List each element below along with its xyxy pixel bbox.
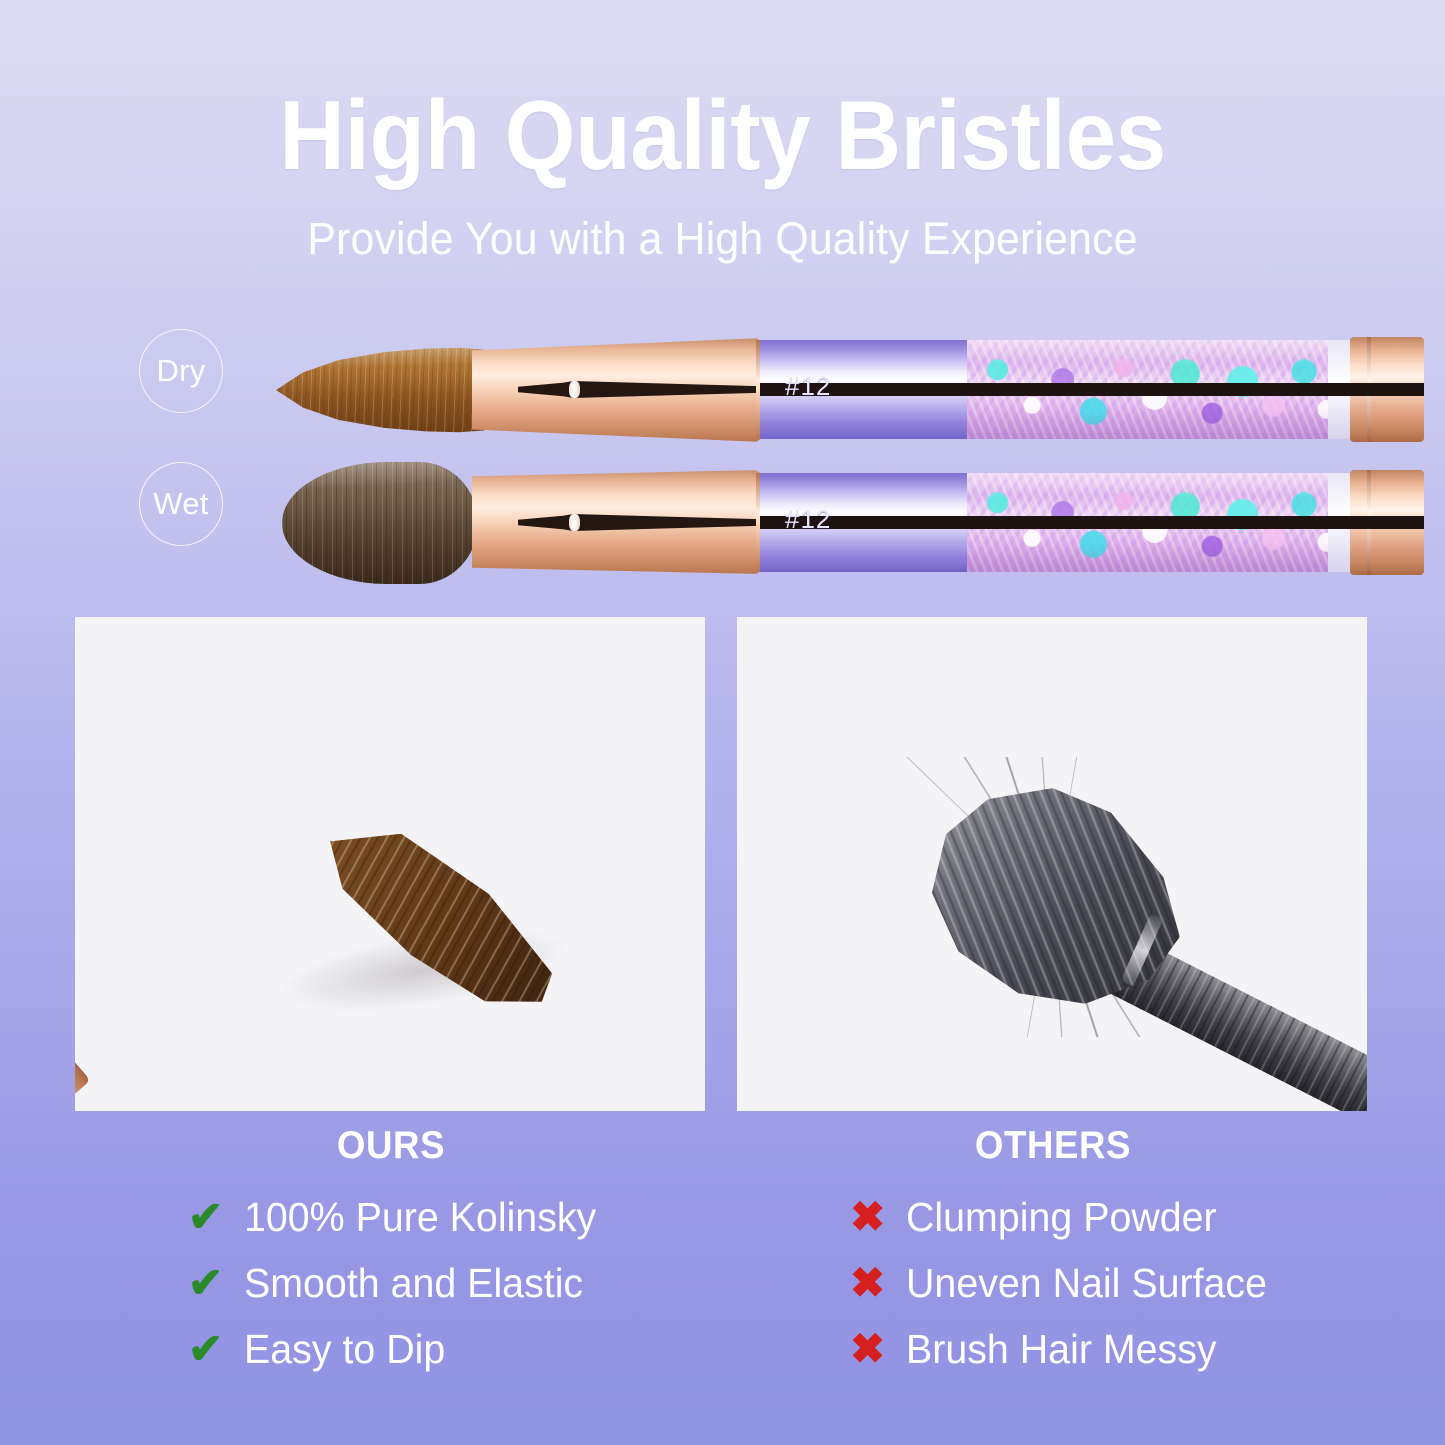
page-subtitle: Provide You with a High Quality Experien… bbox=[36, 213, 1409, 265]
feature-label: Brush Hair Messy bbox=[906, 1326, 1217, 1373]
feature-label: 100% Pure Kolinsky bbox=[244, 1194, 596, 1241]
cross-icon: ✖ bbox=[850, 1196, 906, 1238]
others-feature-list: ✖ Clumping Powder ✖ Uneven Nail Surface … bbox=[722, 1186, 1384, 1380]
photo-ours-brush bbox=[75, 617, 705, 1111]
list-item: ✔ Easy to Dip bbox=[188, 1318, 722, 1380]
brush-illustration-dry: #12 bbox=[276, 315, 1346, 465]
list-item: ✔ 100% Pure Kolinsky bbox=[188, 1186, 722, 1248]
state-badge-dry: Dry bbox=[139, 329, 223, 413]
ours-heading: OURS bbox=[80, 1124, 702, 1168]
handle-stripe bbox=[967, 383, 1424, 396]
state-badge-dry-label: Dry bbox=[156, 353, 205, 389]
comparison-column-others: OTHERS ✖ Clumping Powder ✖ Uneven Nail S… bbox=[722, 1124, 1384, 1384]
feature-label: Smooth and Elastic bbox=[244, 1260, 583, 1307]
comparison-column-ours: OURS ✔ 100% Pure Kolinsky ✔ Smooth and E… bbox=[60, 1124, 722, 1384]
check-icon: ✔ bbox=[188, 1262, 244, 1304]
list-item: ✖ Uneven Nail Surface bbox=[850, 1252, 1384, 1314]
list-item: ✖ Clumping Powder bbox=[850, 1186, 1384, 1248]
ours-feature-list: ✔ 100% Pure Kolinsky ✔ Smooth and Elasti… bbox=[60, 1186, 722, 1380]
cross-icon: ✖ bbox=[850, 1262, 906, 1304]
brush-illustration-wet: #12 bbox=[276, 448, 1346, 598]
feature-label: Easy to Dip bbox=[244, 1326, 445, 1373]
brush-size-label-dry: #12 bbox=[785, 371, 831, 402]
state-badge-wet: Wet bbox=[139, 462, 223, 546]
others-heading: OTHERS bbox=[742, 1124, 1364, 1168]
feature-label: Clumping Powder bbox=[906, 1194, 1217, 1241]
state-badge-wet-label: Wet bbox=[153, 486, 208, 522]
brush-row-wet: Wet #12 bbox=[0, 448, 1445, 598]
page-title: High Quality Bristles bbox=[51, 84, 1395, 187]
check-icon: ✔ bbox=[188, 1328, 244, 1370]
handle-stripe bbox=[967, 516, 1424, 529]
check-icon: ✔ bbox=[188, 1196, 244, 1238]
brush-row-dry: Dry #12 bbox=[0, 315, 1445, 465]
feature-label: Uneven Nail Surface bbox=[906, 1260, 1267, 1307]
list-item: ✖ Brush Hair Messy bbox=[850, 1318, 1384, 1380]
ferrule-highlight bbox=[569, 514, 580, 531]
ferrule-highlight bbox=[569, 381, 580, 398]
photo-brush-handle bbox=[75, 617, 91, 1111]
photo-others-brush bbox=[737, 617, 1367, 1111]
header: High Quality Bristles Provide You with a… bbox=[0, 0, 1445, 265]
brush-bristles-dry bbox=[276, 346, 484, 434]
brush-bristles-wet bbox=[282, 462, 478, 584]
brush-size-label-wet: #12 bbox=[785, 504, 831, 535]
list-item: ✔ Smooth and Elastic bbox=[188, 1252, 722, 1314]
cross-icon: ✖ bbox=[850, 1328, 906, 1370]
